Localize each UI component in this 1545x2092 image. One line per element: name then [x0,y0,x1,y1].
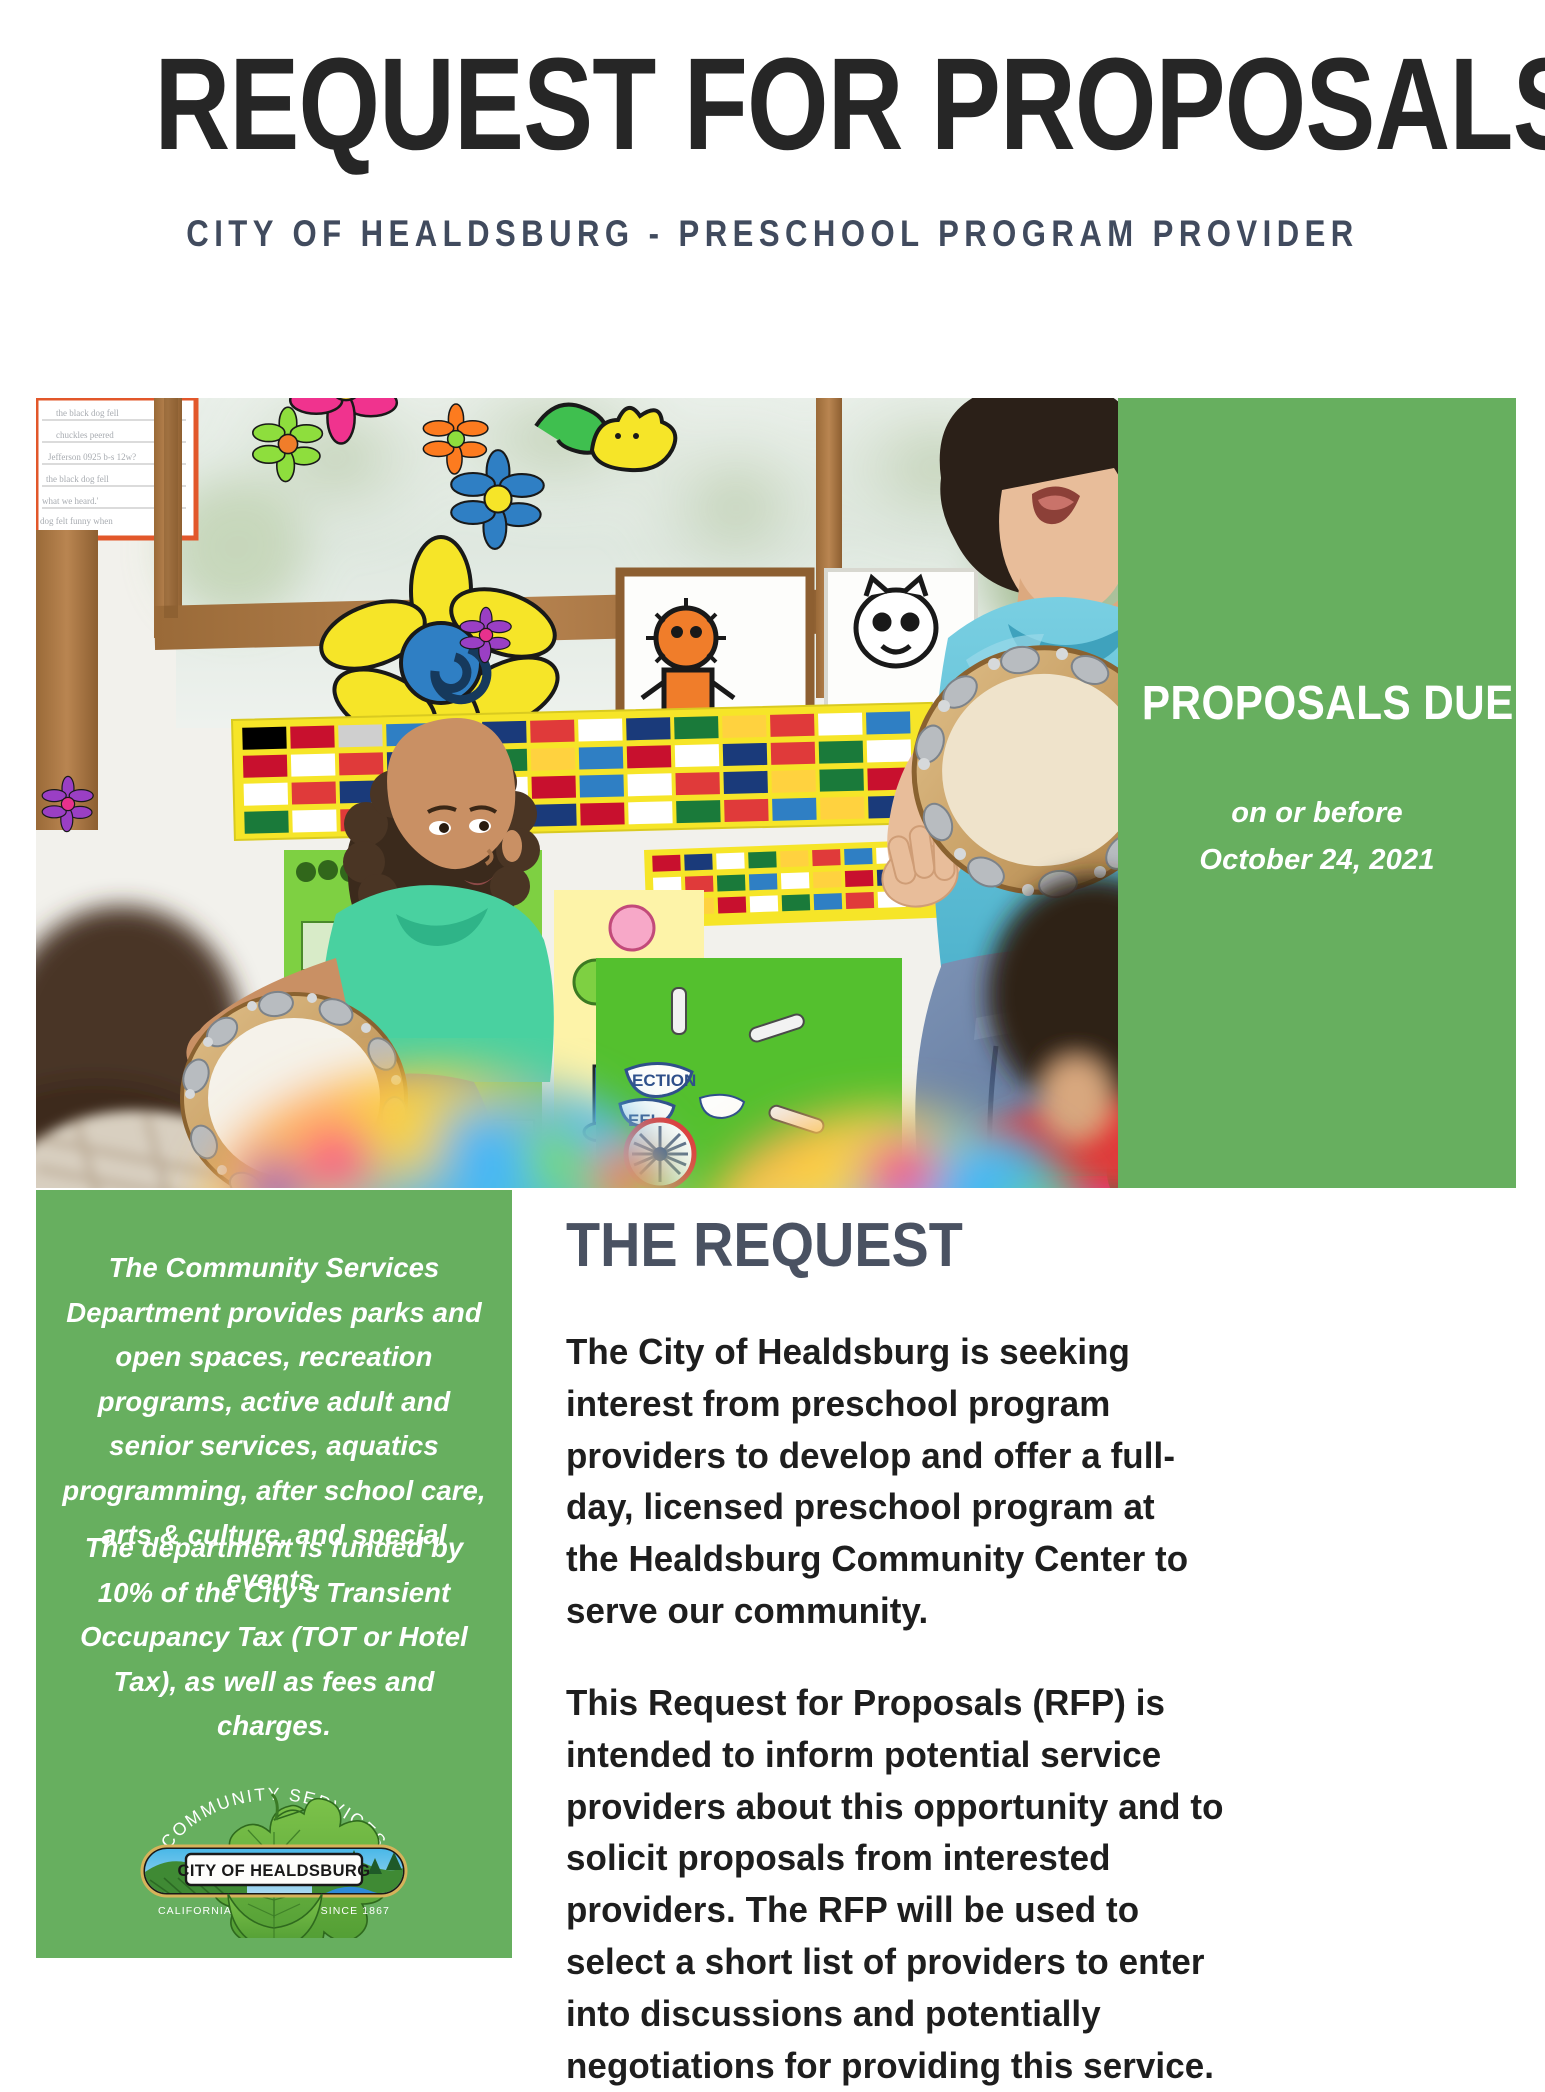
request-heading: THE REQUEST [566,1215,1403,1277]
svg-text:the black dog fell: the black dog fell [46,474,109,484]
request-section: THE REQUEST The City of Healdsburg is se… [566,1215,1496,2092]
proposals-due-heading: PROPOSALS DUE [1142,676,1492,731]
sidebar-paragraph-2: The department is funded by 10% of the C… [36,1526,512,1749]
svg-text:chuckles peered: chuckles peered [56,430,114,440]
logo-badge-text: CITY OF HEALDSBURG [178,1862,371,1880]
svg-text:what we heard.': what we heard.' [42,496,99,506]
svg-text:dog felt funny when: dog felt funny when [40,516,113,526]
logo-left-text: CALIFORNIA [158,1905,232,1917]
svg-text:the black dog fell: the black dog fell [56,408,119,418]
city-logo-icon: COMMUNITY SERVICES [124,1768,424,1938]
logo-right-text: SINCE 1867 [321,1905,390,1917]
svg-text:ECTION: ECTION [632,1071,696,1090]
request-paragraph-1: The City of Healdsburg is seeking intere… [566,1326,1206,1637]
page-title: REQUEST FOR PROPOSALS [155,38,1391,169]
proposals-due-panel: PROPOSALS DUE on or before October 24, 2… [1118,398,1516,1188]
community-services-sidebar: The Community Services Department provid… [36,1190,512,1958]
due-date: October 24, 2021 [1118,837,1516,884]
request-paragraph-2: This Request for Proposals (RFP) is inte… [566,1677,1245,2092]
due-prefix: on or before [1118,790,1516,837]
classroom-photo-illustration: the black dog fell chuckles peered Jeffe… [36,398,1118,1188]
header: REQUEST FOR PROPOSALS CITY OF HEALDSBURG… [0,0,1545,300]
page-subtitle: CITY OF HEALDSBURG - PRESCHOOL PROGRAM P… [124,213,1422,255]
svg-text:Jefferson 0925 b-s 12w?: Jefferson 0925 b-s 12w? [48,452,136,462]
proposals-due-date-block: on or before October 24, 2021 [1118,790,1516,884]
classroom-photo: the black dog fell chuckles peered Jeffe… [36,398,1118,1188]
city-of-healdsburg-logo: COMMUNITY SERVICES [124,1768,424,1938]
